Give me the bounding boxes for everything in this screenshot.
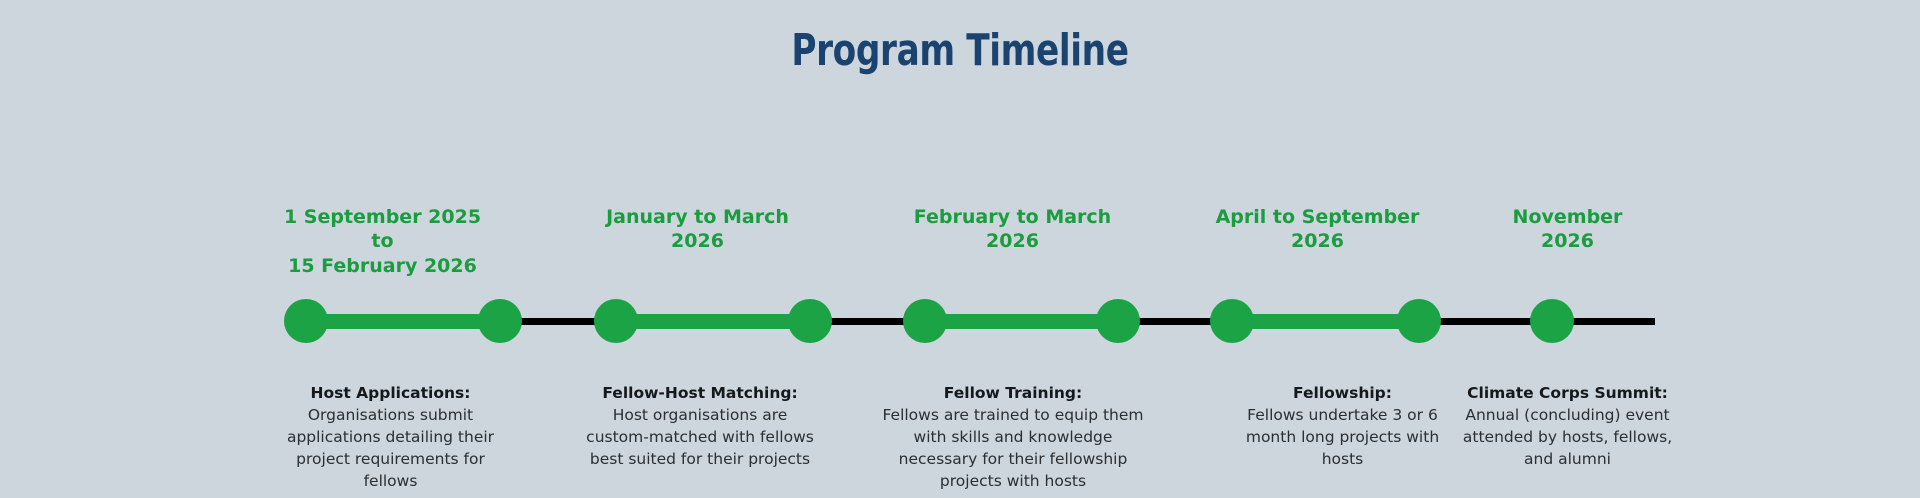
- milestone-description-4: Fellowship: Fellows undertake 3 or 6 mon…: [1240, 382, 1445, 470]
- phase-bar-3: [920, 314, 1117, 329]
- milestone-description-5: Climate Corps Summit: Annual (concluding…: [1455, 382, 1680, 470]
- milestone-description-1: Host Applications: Organisations submit …: [268, 382, 513, 492]
- program-timeline: 1 September 2025 to 15 February 2026 Jan…: [0, 0, 1920, 498]
- milestone-date-2-line1: January to March: [606, 206, 789, 228]
- milestone-heading-1: Host Applications:: [268, 382, 513, 404]
- milestone-node-5[interactable]: [1530, 299, 1574, 343]
- milestone-date-3-line2: 2026: [986, 230, 1039, 252]
- milestone-date-4-line2: 2026: [1291, 230, 1344, 252]
- milestone-heading-2: Fellow-Host Matching:: [580, 382, 820, 404]
- milestone-node-3-start[interactable]: [903, 299, 947, 343]
- milestone-body-1: Organisations submit applications detail…: [268, 404, 513, 492]
- milestone-date-1-line1: 1 September 2025 to: [284, 206, 481, 252]
- milestone-node-4-start[interactable]: [1210, 299, 1254, 343]
- milestone-description-3: Fellow Training: Fellows are trained to …: [872, 382, 1154, 492]
- milestone-date-3: February to March 2026: [905, 205, 1120, 254]
- milestone-node-1-end[interactable]: [478, 299, 522, 343]
- milestone-body-3: Fellows are trained to equip them with s…: [872, 404, 1154, 492]
- phase-bar-2: [610, 314, 810, 329]
- milestone-heading-4: Fellowship:: [1240, 382, 1445, 404]
- milestone-body-2: Host organisations are custom-matched wi…: [580, 404, 820, 470]
- milestone-date-1-line2: 15 February 2026: [288, 255, 477, 277]
- milestone-date-4: April to September 2026: [1205, 205, 1430, 254]
- milestone-node-3-end[interactable]: [1096, 299, 1140, 343]
- milestone-node-2-end[interactable]: [788, 299, 832, 343]
- milestone-description-2: Fellow-Host Matching: Host organisations…: [580, 382, 820, 470]
- milestone-node-4-end[interactable]: [1397, 299, 1441, 343]
- milestone-date-5: November 2026: [1460, 205, 1675, 254]
- milestone-date-3-line1: February to March: [914, 206, 1111, 228]
- milestone-body-4: Fellows undertake 3 or 6 month long proj…: [1240, 404, 1445, 470]
- milestone-date-5-line1: November: [1513, 206, 1623, 228]
- milestone-date-2-line2: 2026: [671, 230, 724, 252]
- milestone-date-4-line1: April to September: [1216, 206, 1420, 228]
- phase-bar-1: [300, 314, 500, 329]
- milestone-date-2: January to March 2026: [585, 205, 810, 254]
- milestone-node-1-start[interactable]: [284, 299, 328, 343]
- milestone-date-1: 1 September 2025 to 15 February 2026: [270, 205, 495, 278]
- milestone-date-5-line2: 2026: [1541, 230, 1594, 252]
- milestone-body-5: Annual (concluding) event attended by ho…: [1455, 404, 1680, 470]
- milestone-heading-3: Fellow Training:: [872, 382, 1154, 404]
- milestone-heading-5: Climate Corps Summit:: [1455, 382, 1680, 404]
- milestone-node-2-start[interactable]: [594, 299, 638, 343]
